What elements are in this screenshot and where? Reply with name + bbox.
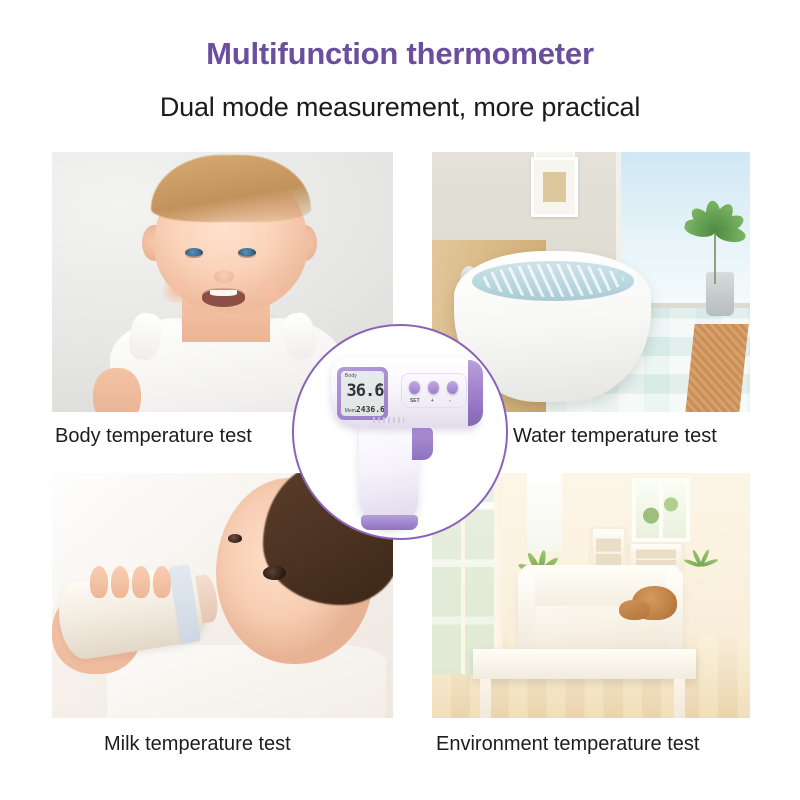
decrease-button-label: -	[449, 398, 451, 404]
product-badge-circle: Body 36.6 C Mem 24 36.6 SET	[292, 324, 508, 540]
thermometer-base	[361, 515, 418, 530]
sensor-nose	[468, 360, 483, 426]
decrease-button[interactable]	[447, 381, 458, 394]
page-subtitle: Dual mode measurement, more practical	[0, 92, 800, 123]
potted-palm	[686, 165, 743, 282]
lcd-memory-label: Mem	[345, 408, 356, 414]
increase-button[interactable]	[428, 381, 439, 394]
coffee-table	[473, 649, 696, 678]
thermometer-barrel: Body 36.6 C Mem 24 36.6 SET	[331, 357, 480, 428]
toy-poodle	[632, 586, 677, 620]
caption-environment-temperature: Environment temperature test	[436, 733, 699, 756]
lcd-bezel: Body 36.6 C Mem 24 36.6	[337, 367, 388, 420]
infrared-forehead-thermometer: Body 36.6 C Mem 24 36.6 SET	[304, 342, 500, 530]
product-infographic: Multifunction thermometer Dual mode meas…	[0, 0, 800, 800]
lcd-memory-value: 36.6	[366, 405, 384, 414]
button-panel: SET + -	[401, 373, 467, 409]
caption-water-temperature: Water temperature test	[513, 425, 717, 448]
thermometer-handle	[359, 423, 418, 528]
thermometer-trigger[interactable]	[412, 427, 434, 461]
lcd-mode-label: Body	[345, 373, 357, 379]
set-button-label: SET	[410, 398, 420, 404]
lcd-memory-row: Mem 24 36.6	[345, 405, 382, 414]
caption-body-temperature: Body temperature test	[55, 425, 252, 448]
page-title: Multifunction thermometer	[0, 36, 800, 72]
increase-button-label: +	[431, 398, 434, 404]
caption-milk-temperature: Milk temperature test	[104, 733, 291, 756]
set-button[interactable]	[409, 381, 420, 394]
indoor-plant-secondary	[683, 544, 718, 583]
lcd-memory-index: 24	[356, 405, 366, 414]
lcd-unit: C	[378, 383, 382, 389]
lcd-screen: Body 36.6 C Mem 24 36.6	[341, 371, 384, 416]
grip-texture	[373, 417, 404, 423]
